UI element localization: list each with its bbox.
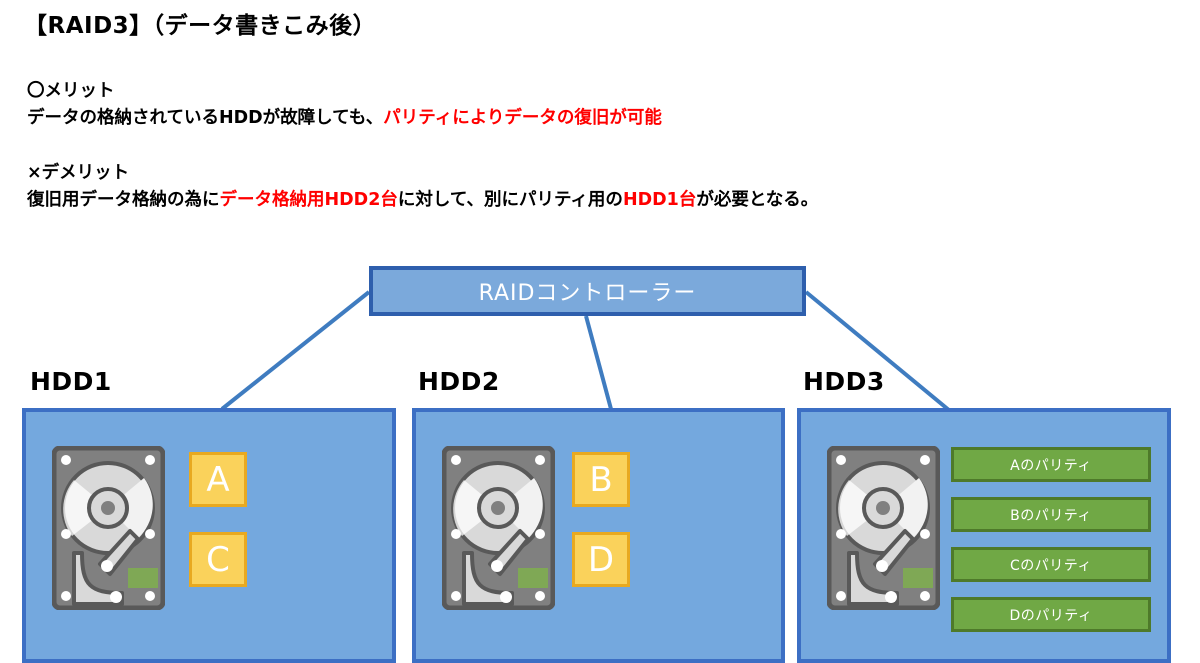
merit-body: データの格納されているHDDが故障しても、パリティによりデータの復旧が可能 <box>27 104 662 129</box>
parity-block[interactable]: Dのパリティ <box>951 597 1151 632</box>
demerit-plain-1: 復旧用データ格納の為に <box>27 190 220 210</box>
parity-block[interactable]: Cのパリティ <box>951 547 1151 582</box>
hdd1-panel[interactable]: A C <box>22 408 396 663</box>
data-block[interactable]: A <box>189 452 247 507</box>
hard-disk-drive-icon <box>827 446 940 610</box>
data-block[interactable]: B <box>572 452 630 507</box>
hdd2-panel[interactable]: B D <box>412 408 785 663</box>
merit-body-highlight: パリティによりデータの復旧が可能 <box>383 108 662 128</box>
wire-controller-to-hdd1 <box>222 292 369 409</box>
demerit-highlight-2: HDD1台 <box>623 190 696 210</box>
merit-body-plain: データの格納されているHDDが故障しても、 <box>27 108 383 128</box>
data-block[interactable]: C <box>189 532 247 587</box>
hdd1-label: HDD1 <box>30 367 112 396</box>
hdd2-label: HDD2 <box>418 367 500 396</box>
demerit-plain-2: に対して、別にパリティ用の <box>398 190 623 210</box>
page-title: 【RAID3】（データ書きこみ後） <box>24 6 376 40</box>
hdd3-label: HDD3 <box>803 367 885 396</box>
slide-canvas: 【RAID3】（データ書きこみ後） 〇メリット データの格納されているHDDが故… <box>0 0 1200 663</box>
wire-controller-to-hdd2 <box>586 316 611 409</box>
parity-block[interactable]: Bのパリティ <box>951 497 1151 532</box>
demerit-body: 復旧用データ格納の為にデータ格納用HDD2台に対して、別にパリティ用のHDD1台… <box>27 186 818 211</box>
demerit-heading: ×デメリット <box>27 159 129 184</box>
hard-disk-drive-icon <box>442 446 555 610</box>
hard-disk-drive-icon <box>52 446 165 610</box>
parity-block[interactable]: Aのパリティ <box>951 447 1151 482</box>
merit-heading: 〇メリット <box>27 77 115 102</box>
data-block[interactable]: D <box>572 532 630 587</box>
hdd3-panel[interactable]: Aのパリティ Bのパリティ Cのパリティ Dのパリティ <box>797 408 1171 663</box>
demerit-plain-3: が必要となる。 <box>696 190 818 210</box>
wire-controller-to-hdd3 <box>806 292 967 425</box>
raid-controller-box[interactable]: RAIDコントローラー <box>369 266 806 316</box>
demerit-highlight-1: データ格納用HDD2台 <box>220 190 398 210</box>
